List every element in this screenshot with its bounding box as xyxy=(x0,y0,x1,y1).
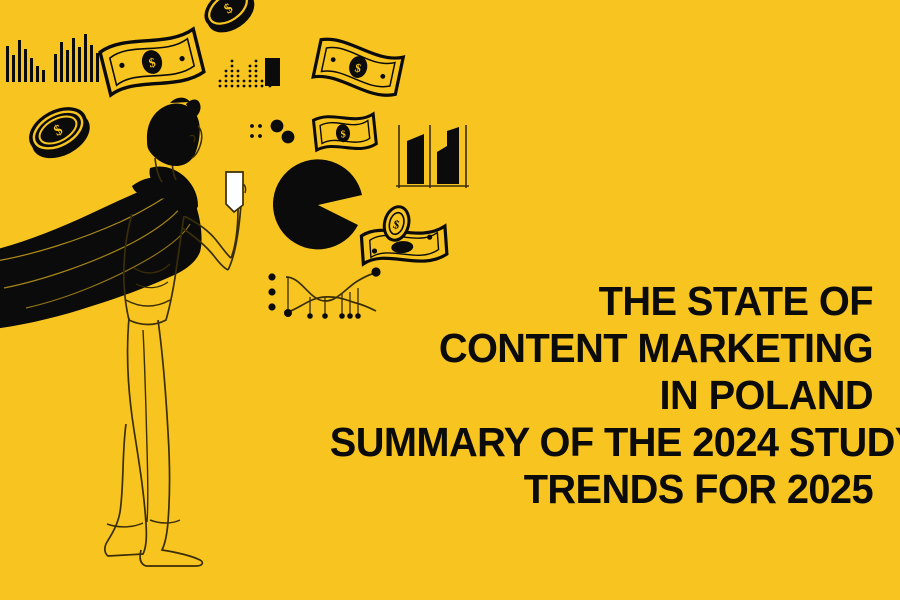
bar-chart-bars-left xyxy=(6,34,99,82)
page-title: THE STATE OF CONTENT MARKETING IN POLAND… xyxy=(313,278,873,513)
headline-line-2: CONTENT MARKETING xyxy=(330,325,873,372)
banknote-lower-right: $ xyxy=(359,200,447,265)
dot-grid xyxy=(250,124,262,138)
coin-dollar-upper: $ xyxy=(197,0,262,41)
headline-line-1: THE STATE OF xyxy=(330,278,873,325)
coin-dollar-top-left: $ xyxy=(21,98,97,168)
headline-line-4: SUMMARY OF THE 2024 STUDY xyxy=(330,419,873,466)
banknote-top: $ xyxy=(99,26,204,99)
solid-rectangle-block xyxy=(265,58,280,86)
headline-line-3: IN POLAND xyxy=(330,372,873,419)
circle-dots-pair xyxy=(271,120,295,144)
dotted-bar-chart xyxy=(219,60,272,88)
pie-chart xyxy=(273,159,362,249)
headline-line-5: TRENDS FOR 2025 xyxy=(330,466,873,513)
legs xyxy=(105,318,147,556)
banknote-mid: $ xyxy=(313,112,376,153)
smartphone xyxy=(226,172,243,212)
two-bar-chart xyxy=(396,125,469,188)
poster-canvas: $ $ $ $ xyxy=(0,0,900,600)
banknote-upper-right: $ xyxy=(312,37,403,98)
caped-man-with-phone xyxy=(0,98,246,566)
